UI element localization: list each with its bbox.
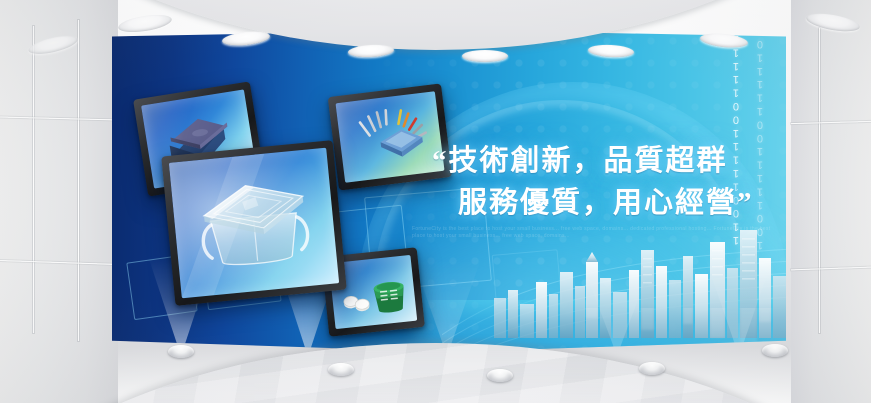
floor-spotlight: [487, 369, 513, 382]
wall-seam-vertical: [819, 28, 820, 333]
product-frame-plastic-storage-container[interactable]: [161, 140, 347, 306]
wall-seam-vertical: [33, 26, 34, 333]
slogan-line-1: “技術創新，品質超群: [432, 145, 728, 177]
slogan-line-2: 服務優質，用心經營”: [432, 182, 762, 224]
showroom-scene: FortuneCity is the best place to host yo…: [0, 0, 871, 403]
banner-slogan: “技術創新，品質超群 服務優質，用心經營”: [432, 140, 762, 224]
product-image-semiconductor-chip: [335, 91, 444, 183]
floor-spotlight: [328, 363, 354, 376]
wall-seam-horizontal: [0, 117, 118, 121]
wall-seam-horizontal: [791, 121, 871, 124]
ceiling-light: [462, 50, 508, 62]
wall-seam-horizontal: [0, 260, 118, 265]
floor-checker-pattern: [0, 343, 871, 403]
wall-seam-vertical: [78, 20, 79, 341]
wall-seam-horizontal: [791, 267, 871, 271]
frame-screen: [335, 91, 444, 183]
showroom-floor: [0, 343, 871, 403]
frame-screen: [169, 148, 339, 299]
floor-spotlight: [762, 344, 788, 357]
product-image-plastic-storage-container: [169, 148, 339, 299]
floor-spotlight: [168, 345, 194, 358]
floor-spotlight: [639, 362, 665, 375]
